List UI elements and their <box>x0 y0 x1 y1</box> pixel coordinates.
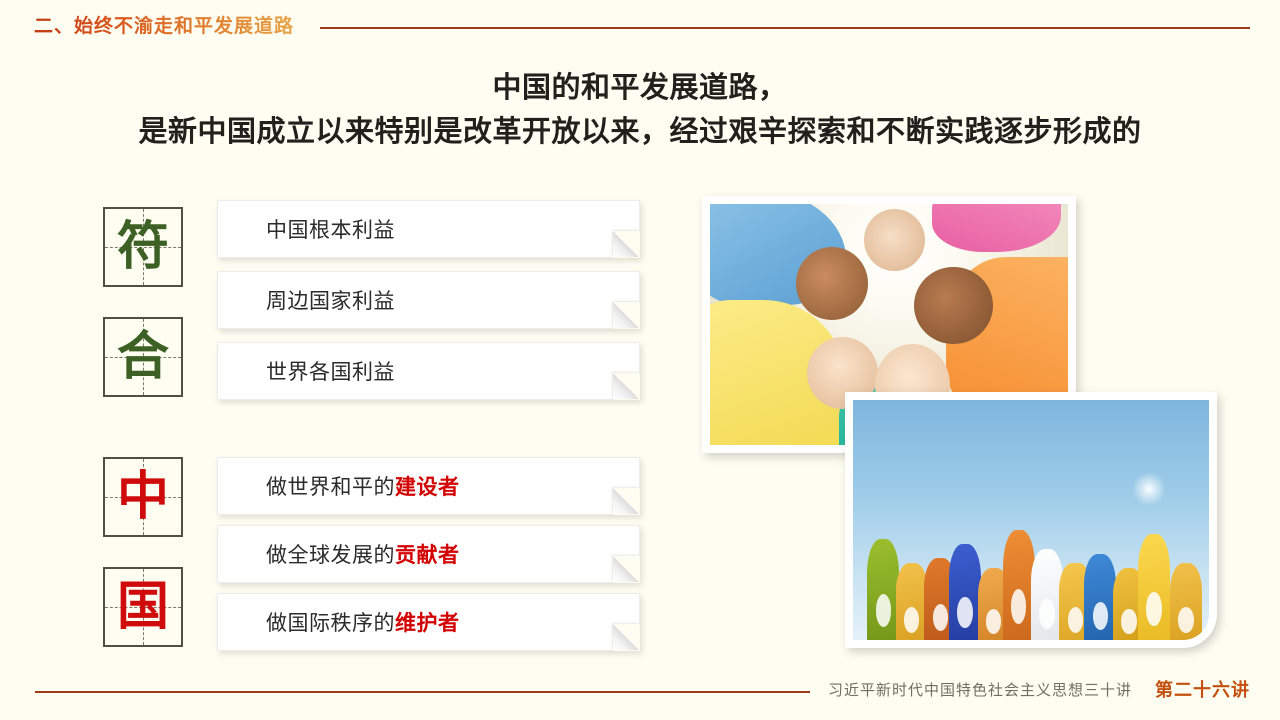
painted-hand <box>1170 563 1202 640</box>
folded-corner-icon <box>613 231 639 257</box>
section-heading: 二、始终不渝走和平发展道路 <box>34 11 294 38</box>
character-cell-zhong: 中 <box>103 457 183 537</box>
list-item[interactable]: 周边国家利益 <box>217 271 640 329</box>
page-title-line-1: 中国的和平发展道路， <box>0 66 1280 110</box>
list-item[interactable]: 做世界和平的建设者 <box>217 457 640 515</box>
card-label: 做国际秩序的维护者 <box>266 594 460 650</box>
painted-hand <box>896 563 928 640</box>
folded-corner-icon <box>613 488 639 514</box>
card-label: 周边国家利益 <box>266 272 395 328</box>
page-title: 中国的和平发展道路， 是新中国成立以来特别是改革开放以来，经过艰辛探索和不断实践… <box>0 66 1280 154</box>
child-face <box>796 247 868 319</box>
footer-book-title: 习近平新时代中国特色社会主义思想三十讲 <box>828 679 1132 700</box>
folded-corner-icon <box>613 624 639 650</box>
card-label-prefix: 做国际秩序的 <box>266 607 395 637</box>
card-label-prefix: 做全球发展的 <box>266 539 395 569</box>
list-item[interactable]: 做全球发展的贡献者 <box>217 525 640 583</box>
character-glyph: 合 <box>105 319 181 395</box>
painted-hands-photo-inner <box>853 400 1209 640</box>
painted-hand <box>949 544 981 640</box>
painted-hands-photo <box>845 392 1217 648</box>
footer-lecture-number: 第二十六讲 <box>1155 676 1250 702</box>
list-item[interactable]: 世界各国利益 <box>217 342 640 400</box>
character-glyph: 符 <box>105 209 181 285</box>
folded-corner-icon <box>613 302 639 328</box>
hands-scene <box>853 400 1209 640</box>
slide-header: 二、始终不渝走和平发展道路 <box>0 0 1280 50</box>
list-item[interactable]: 中国根本利益 <box>217 200 640 258</box>
card-label-highlight: 建设者 <box>395 471 460 501</box>
painted-hand <box>1138 534 1170 640</box>
painted-hand <box>1084 554 1116 640</box>
folded-corner-icon <box>613 556 639 582</box>
card-label: 做全球发展的贡献者 <box>266 526 460 582</box>
card-label-prefix: 做世界和平的 <box>266 471 395 501</box>
painted-hand <box>867 539 899 640</box>
character-glyph: 中 <box>105 459 181 535</box>
character-glyph: 国 <box>105 569 181 645</box>
slide-root: 二、始终不渝走和平发展道路 中国的和平发展道路， 是新中国成立以来特别是改革开放… <box>0 0 1280 720</box>
card-label-highlight: 维护者 <box>395 607 460 637</box>
card-label-highlight: 贡献者 <box>395 539 460 569</box>
card-label: 中国根本利益 <box>266 201 395 257</box>
child-face <box>914 267 993 344</box>
folded-corner-icon <box>613 373 639 399</box>
header-divider <box>320 27 1250 29</box>
card-label: 做世界和平的建设者 <box>266 458 460 514</box>
card-label: 世界各国利益 <box>266 343 395 399</box>
character-cell-he: 合 <box>103 317 183 397</box>
character-cell-fu: 符 <box>103 207 183 287</box>
painted-hand <box>1031 549 1063 640</box>
list-item[interactable]: 做国际秩序的维护者 <box>217 593 640 651</box>
footer-divider <box>35 691 810 693</box>
page-title-line-2: 是新中国成立以来特别是改革开放以来，经过艰辛探索和不断实践逐步形成的 <box>0 110 1280 154</box>
painted-hand <box>1003 530 1035 640</box>
character-cell-guo: 国 <box>103 567 183 647</box>
child-face <box>864 209 925 272</box>
